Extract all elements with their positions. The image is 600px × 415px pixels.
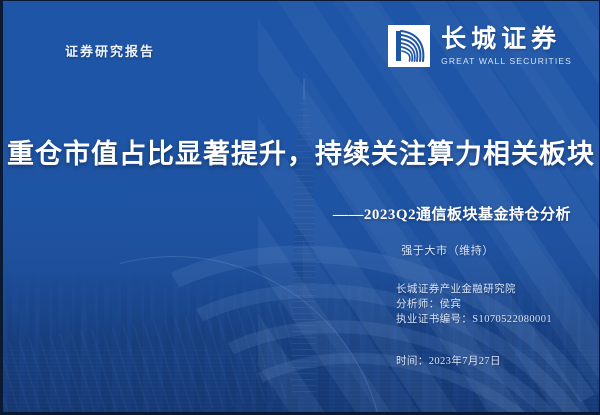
cover-content: 证券研究报告 长城证券	[3, 1, 599, 412]
brand-logo: 长城证券 GREAT WALL SECURITIES	[388, 25, 572, 67]
report-kicker: 证券研究报告	[65, 41, 155, 60]
analyst-name: 分析师：侯宾	[396, 297, 552, 312]
great-wall-fan-emblem-icon	[388, 25, 430, 67]
report-cover-slide: 证券研究报告 长城证券	[0, 0, 600, 415]
brand-wordmark: 长城证券 GREAT WALL SECURITIES	[441, 25, 572, 66]
analyst-license-number: 执业证书编号：S1070522080001	[396, 312, 552, 327]
report-title: 重仓市值占比显著提升，持续关注算力相关板块	[3, 132, 599, 171]
report-subtitle: ——2023Q2通信板块基金持仓分析	[333, 203, 571, 224]
investment-rating: 强于大市（维持）	[401, 242, 494, 258]
analyst-info-block: 长城证券产业金融研究院 分析师：侯宾 执业证书编号：S1070522080001	[396, 282, 552, 327]
report-date: 时间：2023年7月27日	[396, 353, 501, 368]
research-institute: 长城证券产业金融研究院	[396, 282, 552, 297]
brand-name-cn: 长城证券	[441, 26, 572, 53]
brand-name-en: GREAT WALL SECURITIES	[441, 56, 572, 66]
